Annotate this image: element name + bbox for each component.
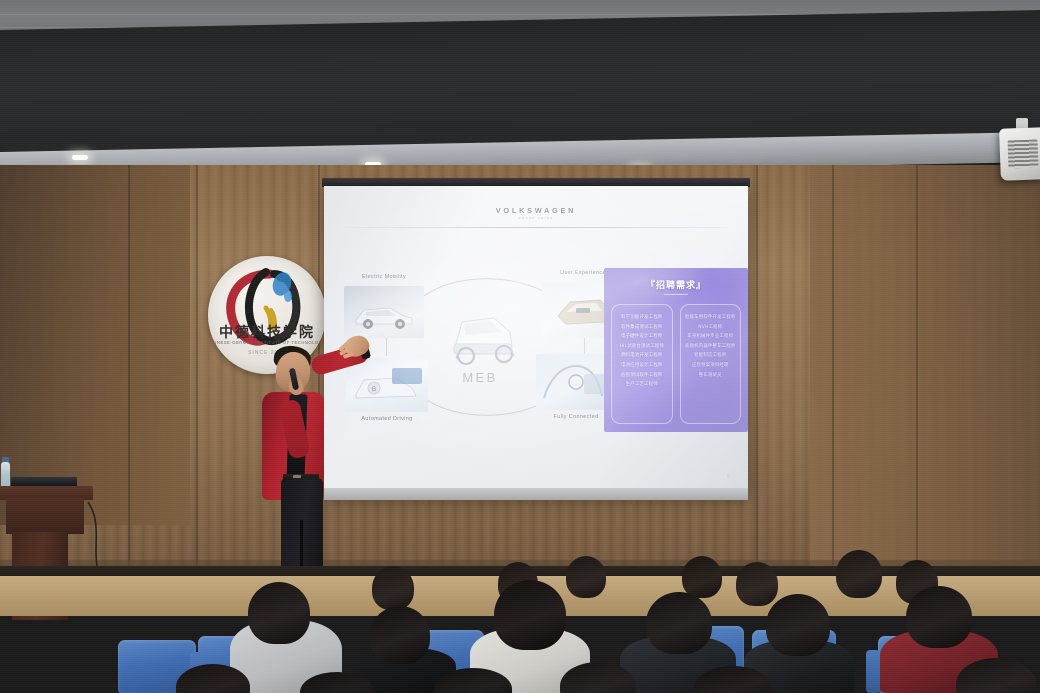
wall-right-shadow (810, 165, 1040, 585)
feature-automated-driving: B (346, 358, 428, 412)
audience-head (370, 606, 430, 664)
slide-page-number: 5 (727, 474, 730, 480)
recruitment-item: 底盘机内器件整车工程师 (685, 343, 736, 349)
logo-chinese-name: 中德科技学院 (208, 322, 326, 342)
audience-head (836, 550, 882, 598)
audience-head (906, 586, 972, 648)
recruitment-item: 科学功能开发工程师 (621, 314, 662, 320)
projection-screen: VOLKSWAGEN GROUP CHINA (324, 186, 748, 496)
recruitment-item: 生产工艺工程师 (626, 381, 658, 387)
recruitment-item: 智能车用软件开发工程师 (685, 314, 736, 320)
lecture-hall-scene: 中德科技学院 CHINESE-GERMAN INSTITUTE OF TECHN… (0, 0, 1040, 693)
recruitment-item: 整车测试员 (699, 372, 722, 378)
recruitment-item: 底盘测试软件工程师 (621, 372, 662, 378)
wall-left-shadow (0, 165, 190, 525)
audience-head (766, 594, 830, 656)
recruitment-item: HIL试验台测试工程师 (620, 343, 664, 349)
recruitment-item: 车身机械件专业工程师 (687, 333, 733, 339)
logo-english-name: CHINESE-GERMAN INSTITUTE OF TECHNOLOGY (208, 340, 326, 345)
panel-title-divider (664, 294, 688, 295)
svg-text:B: B (372, 387, 376, 393)
recruitment-item: 软件集成测试工程师 (621, 324, 662, 330)
feature-label-automated-driving: Automated Driving (346, 416, 428, 422)
audience-head (566, 556, 606, 598)
audience-head (646, 592, 712, 654)
recruitment-panel-title: 『招聘需求』 (604, 278, 748, 291)
audience-head (248, 582, 310, 644)
recruitment-item: 燃料电池开发工程师 (621, 352, 662, 358)
podium-body (6, 498, 84, 534)
recruitment-item: 电子硬件设计工程师 (621, 333, 662, 339)
recruitment-column-right: 智能车用软件开发工程师 NVH工程师 车身机械件专业工程师 底盘机内器件整车工程… (680, 304, 742, 424)
recruitment-item: 电池应用设计工程师 (621, 362, 662, 368)
projector-icon (999, 127, 1040, 181)
downlight (72, 155, 88, 160)
screen-bottom-bar (324, 488, 748, 500)
recruitment-item: NVH工程师 (698, 324, 722, 330)
audience-head (372, 566, 414, 610)
meb-chassis-icon (434, 294, 530, 374)
autonomous-photo-icon: B (346, 358, 428, 412)
car-photo-icon (344, 286, 424, 338)
audience-head (494, 580, 566, 650)
recruitment-item: 智能制造工程师 (694, 352, 726, 358)
feature-electric-mobility (344, 286, 424, 338)
projector-vents (1008, 139, 1039, 168)
recruitment-item: 应急预案项目经理 (692, 362, 729, 368)
recruitment-column-left: 科学功能开发工程师 软件集成测试工程师 电子硬件设计工程师 HIL试验台测试工程… (611, 304, 673, 424)
audience-head (736, 562, 778, 606)
recruitment-panel: 『招聘需求』 科学功能开发工程师 软件集成测试工程师 电子硬件设计工程师 HIL… (604, 268, 748, 432)
seat-armrest (866, 650, 880, 693)
feature-label-electric-mobility: Electric Mobility (344, 274, 424, 280)
audience-head (682, 556, 722, 598)
recruitment-columns: 科学功能开发工程师 软件集成测试工程师 电子硬件设计工程师 HIL试验台测试工程… (611, 304, 741, 424)
meb-label: MEB (442, 370, 518, 385)
slide: VOLKSWAGEN GROUP CHINA (324, 186, 748, 496)
